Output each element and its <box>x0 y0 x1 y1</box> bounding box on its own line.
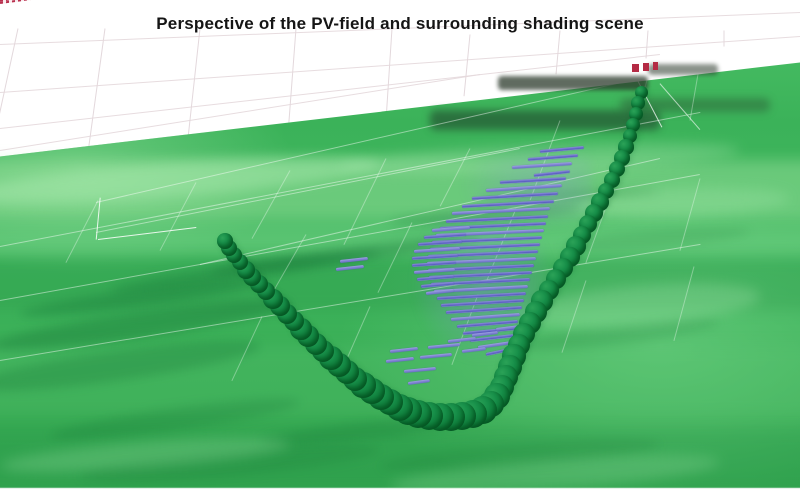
terrain-distant-woodland <box>430 110 660 130</box>
terrain-shadow-streak-10 <box>559 224 750 254</box>
terrain-shadow-streak-5 <box>390 202 581 228</box>
perspective-scene: Perspective of the PV-field and surround… <box>0 0 800 500</box>
terrain-highlight-1 <box>339 137 740 179</box>
terrain-surface <box>0 46 800 500</box>
figure-title: Perspective of the PV-field and surround… <box>0 14 800 34</box>
terrain-highlight-0 <box>0 147 381 213</box>
terrain-distant-woodland-2 <box>620 98 770 112</box>
terrain-shading-layer <box>0 46 800 500</box>
terrain-shadow-streak-8 <box>259 409 481 451</box>
terrain-shadow-streak-4 <box>209 231 481 279</box>
bottom-margin <box>0 489 800 500</box>
